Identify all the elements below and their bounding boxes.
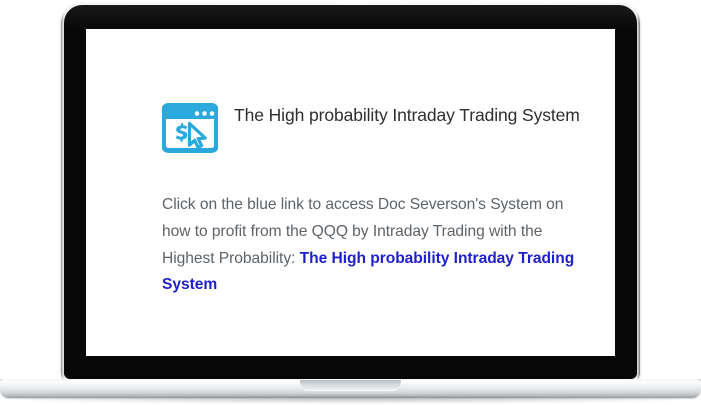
headline-row: The High probability Intraday Trading Sy…: [162, 99, 582, 157]
laptop-base-notch: [300, 380, 401, 391]
laptop-drop-shadow: [22, 396, 679, 403]
laptop-mockup: The High probability Intraday Trading Sy…: [0, 0, 701, 405]
screen-content: The High probability Intraday Trading Sy…: [162, 99, 582, 299]
browser-window-dollar-cursor-icon: [162, 101, 218, 157]
body-paragraph: Click on the blue link to access Doc Sev…: [162, 157, 582, 299]
laptop-screen: The High probability Intraday Trading Sy…: [86, 29, 615, 356]
page-title: The High probability Intraday Trading Sy…: [234, 99, 580, 127]
